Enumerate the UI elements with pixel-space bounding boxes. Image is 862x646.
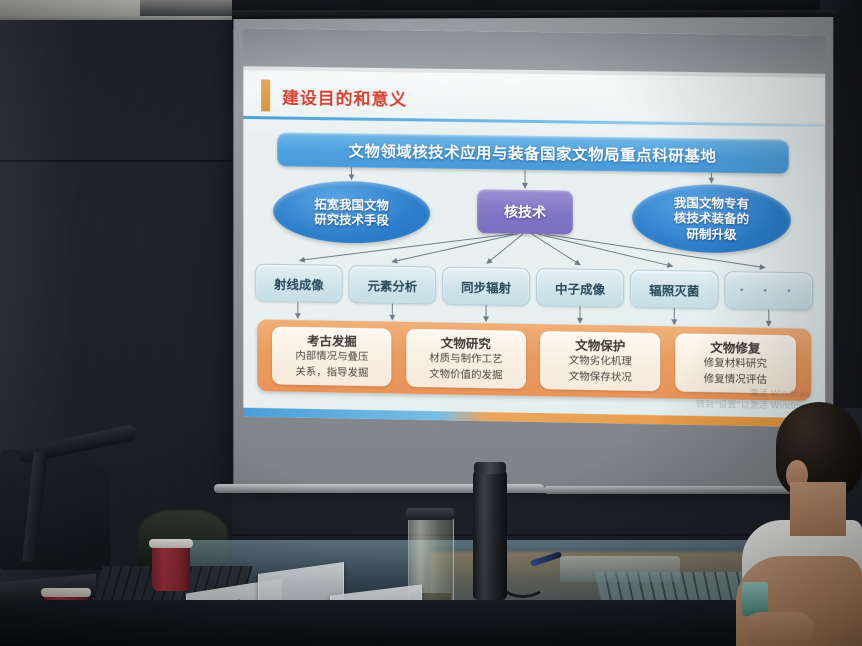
- technique-box: 同步辐射: [442, 267, 530, 306]
- technique-label: 同步辐射: [461, 276, 511, 296]
- technique-label: · · ·: [739, 283, 798, 299]
- technique-label: 中子成像: [555, 278, 605, 298]
- tumbler-lid: [406, 508, 454, 520]
- slide-title-bar: 建设目的和意义: [261, 78, 407, 114]
- page-title: 建设目的和意义: [282, 83, 407, 110]
- technique-label: 辐照灭菌: [649, 279, 699, 299]
- application-desc-line1: 内部情况与叠压: [295, 350, 368, 365]
- application-title: 考古发掘: [307, 333, 357, 349]
- goal-right-label: 我国文物专有核技术装备的研制升级: [674, 195, 749, 242]
- application-title: 文物研究: [441, 335, 491, 351]
- goal-left-label: 拓宽我国文物研究技术手段: [314, 196, 389, 228]
- application-title: 文物保护: [575, 338, 625, 354]
- attendee-hand: [744, 612, 814, 646]
- technique-box: 辐照灭菌: [630, 270, 718, 310]
- application-card: 文物研究 材质与制作工艺 文物价值的发掘: [406, 329, 526, 389]
- presentation-slide: 建设目的和意义 文物领域核技术应用与装备国家文物局重点科研基地: [243, 28, 825, 427]
- application-desc-line2: 关系，指导发掘: [295, 365, 368, 380]
- table-front-edge: [0, 600, 862, 646]
- head-box-label: 文物领域核技术应用与装备国家文物局重点科研基地: [349, 139, 717, 166]
- coffee-cup: [152, 545, 190, 591]
- application-desc-line2: 文物价值的发掘: [429, 368, 502, 383]
- goal-left-ellipse: 拓宽我国文物研究技术手段: [273, 180, 430, 244]
- office-chair: [0, 450, 110, 570]
- technique-box: 射线成像: [255, 264, 342, 303]
- conference-room-photo: 建设目的和意义 文物领域核技术应用与装备国家文物局重点科研基地: [0, 0, 862, 646]
- application-title: 文物修复: [710, 340, 760, 356]
- technique-box: 中子成像: [536, 268, 624, 307]
- application-desc-line1: 材质与制作工艺: [429, 352, 502, 367]
- technique-box-ellipsis: · · ·: [725, 271, 814, 311]
- projection-screen: 建设目的和意义 文物领域核技术应用与装备国家文物局重点科研基地: [233, 17, 833, 494]
- technique-box: 元素分析: [349, 265, 437, 304]
- title-accent-bar: [261, 79, 270, 111]
- goal-right-ellipse: 我国文物专有核技术装备的研制升级: [632, 183, 791, 254]
- application-card: 考古发掘 内部情况与叠压 关系，指导发掘: [272, 327, 391, 387]
- head-box: 文物领域核技术应用与装备国家文物局重点科研基地: [277, 132, 789, 173]
- goal-center-label: 核技术: [504, 202, 546, 223]
- technique-label: 射线成像: [274, 273, 324, 293]
- technique-row: 射线成像 元素分析 同步辐射 中子成像 辐照灭菌 · · ·: [255, 264, 813, 309]
- attendee-neck: [790, 482, 846, 536]
- application-desc-line2: 文物保存状况: [569, 370, 632, 385]
- application-desc-line1: 修复材料研究: [704, 357, 767, 372]
- mousepad: [560, 556, 680, 582]
- application-card: 文物保护 文物劣化机理 文物保存状况: [540, 331, 660, 391]
- attendee-phone: [742, 582, 768, 616]
- application-desc-line2: 修复情况评估: [704, 372, 767, 387]
- black-thermos: [473, 470, 507, 600]
- goal-center-box: 核技术: [477, 189, 573, 234]
- application-desc-line1: 文物劣化机理: [569, 354, 632, 369]
- technique-label: 元素分析: [367, 275, 417, 295]
- application-card: 文物修复 修复材料研究 修复情况评估: [675, 333, 796, 393]
